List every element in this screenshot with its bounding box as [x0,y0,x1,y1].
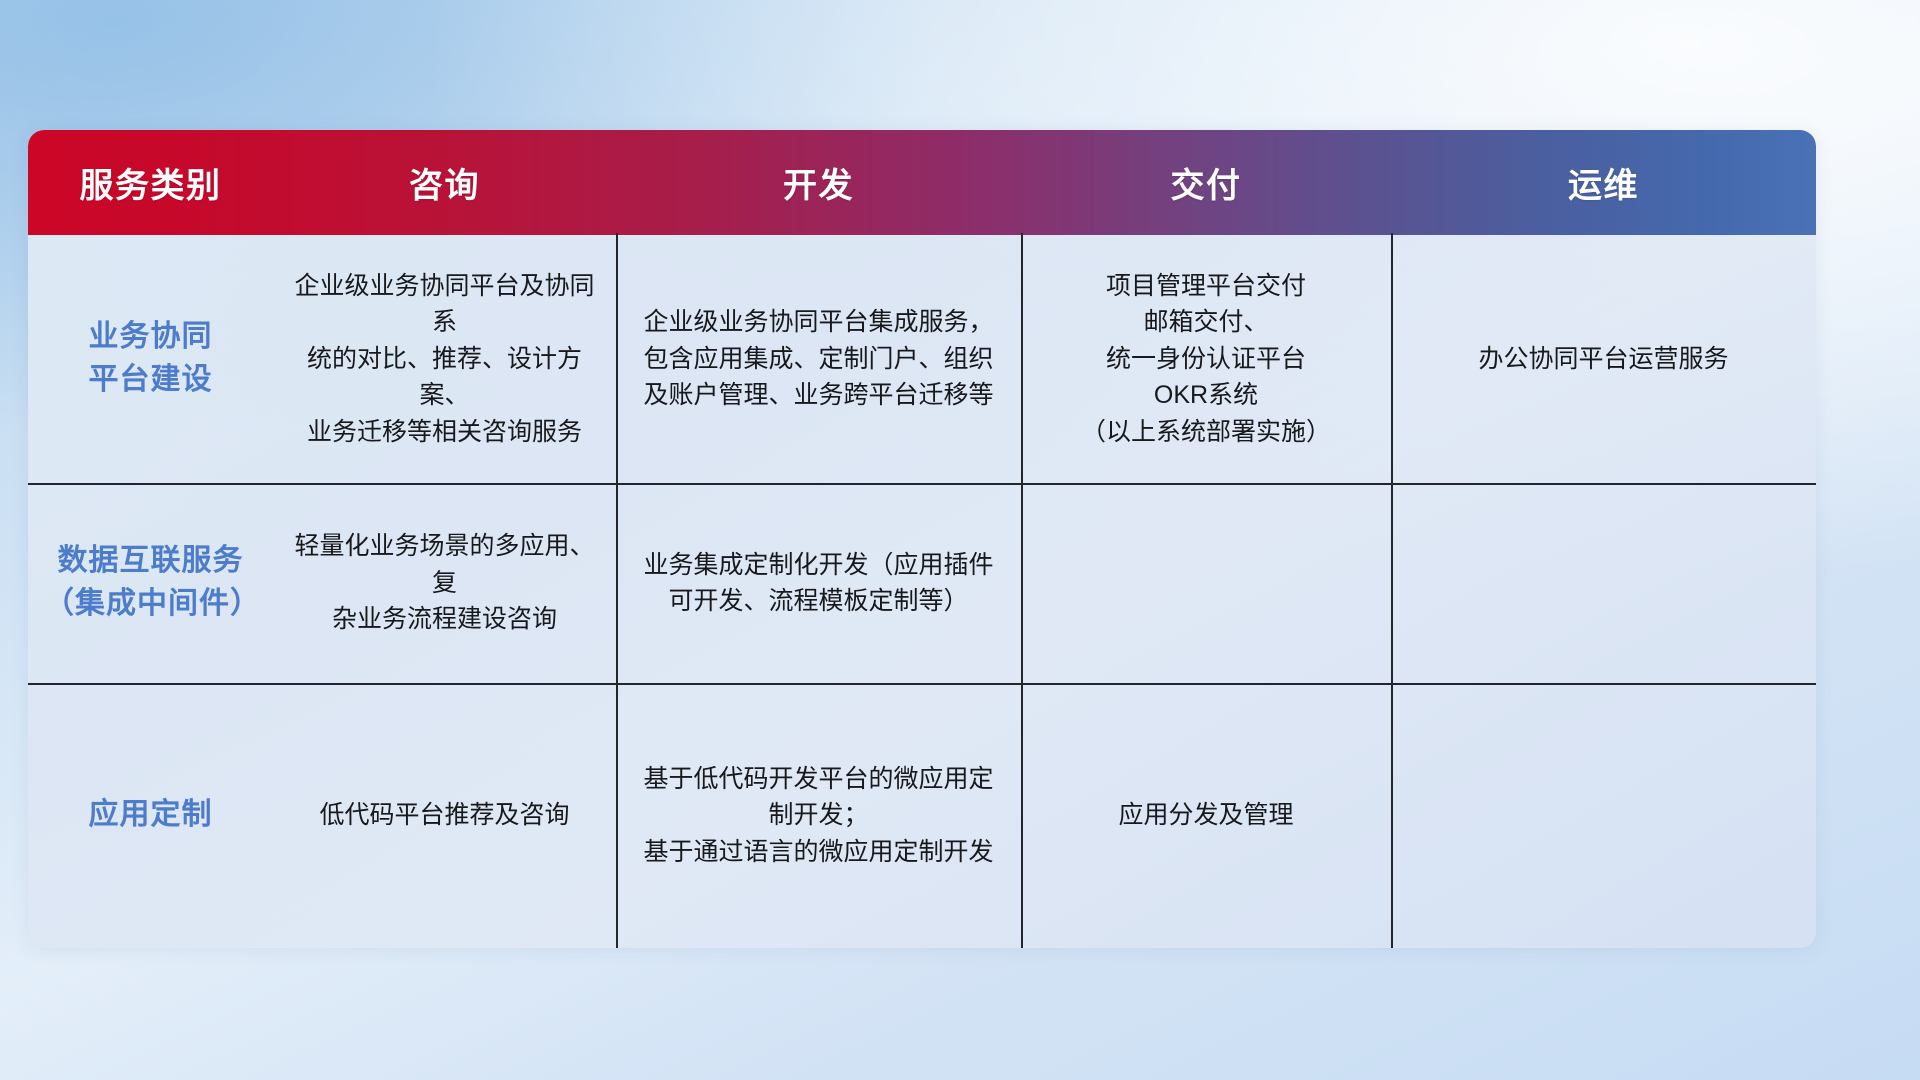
cell-delivery [1021,483,1391,683]
column-header-delivery: 交付 [1021,130,1391,235]
cell-text: 应用分发及管理 [1118,797,1293,834]
cell-consulting: 轻量化业务场景的多应用、复 杂业务流程建设咨询 [273,483,616,683]
row-category-cell: 数据互联服务 （集成中间件） [28,483,273,683]
cell-development: 基于低代码开发平台的微应用定 制开发； 基于通过语言的微应用定制开发 [616,683,1021,948]
column-header-category: 服务类别 [28,130,273,235]
cell-operations [1391,483,1816,683]
table-row: 业务协同 平台建设 企业级业务协同平台及协同系 统的对比、推荐、设计方案、 业务… [28,235,1816,483]
cell-text: 办公协同平台运营服务 [1478,341,1728,378]
cell-consulting: 低代码平台推荐及咨询 [273,683,616,948]
row-category-cell: 业务协同 平台建设 [28,235,273,483]
column-header-development: 开发 [616,130,1021,235]
cell-text: 项目管理平台交付 邮箱交付、 统一身份认证平台 OKR系统 （以上系统部署实施） [1081,268,1331,451]
cell-delivery: 项目管理平台交付 邮箱交付、 统一身份认证平台 OKR系统 （以上系统部署实施） [1021,235,1391,483]
cell-text: 低代码平台推荐及咨询 [319,797,569,834]
cell-development: 业务集成定制化开发（应用插件 可开发、流程模板定制等） [616,483,1021,683]
cell-delivery: 应用分发及管理 [1021,683,1391,948]
service-matrix-table: 服务类别 咨询 开发 交付 运维 业务协同 平台建设 企业级业务协同平台及协同系… [28,130,1816,948]
column-header-consulting: 咨询 [273,130,616,235]
slide-canvas: 服务类别 咨询 开发 交付 运维 业务协同 平台建设 企业级业务协同平台及协同系… [0,0,1920,1080]
row-category-cell: 应用定制 [28,683,273,948]
cell-text: 基于低代码开发平台的微应用定 制开发； 基于通过语言的微应用定制开发 [643,761,993,871]
cell-text: 企业级业务协同平台集成服务， 包含应用集成、定制门户、组织 及账户管理、业务跨平… [643,304,993,414]
category-label: 数据互联服务 （集成中间件） [44,540,257,625]
table-row: 数据互联服务 （集成中间件） 轻量化业务场景的多应用、复 杂业务流程建设咨询 业… [28,483,1816,683]
table-body: 业务协同 平台建设 企业级业务协同平台及协同系 统的对比、推荐、设计方案、 业务… [28,235,1816,948]
cell-text: 业务集成定制化开发（应用插件 可开发、流程模板定制等） [643,547,993,620]
cell-text: 企业级业务协同平台及协同系 统的对比、推荐、设计方案、 业务迁移等相关咨询服务 [289,268,600,451]
category-label: 业务协同 平台建设 [89,316,213,401]
cell-operations: 办公协同平台运营服务 [1391,235,1816,483]
cell-text: 轻量化业务场景的多应用、复 杂业务流程建设咨询 [289,528,600,638]
table-header-row: 服务类别 咨询 开发 交付 运维 [28,130,1816,235]
table-row: 应用定制 低代码平台推荐及咨询 基于低代码开发平台的微应用定 制开发； 基于通过… [28,683,1816,948]
cell-development: 企业级业务协同平台集成服务， 包含应用集成、定制门户、组织 及账户管理、业务跨平… [616,235,1021,483]
cell-operations [1391,683,1816,948]
cell-consulting: 企业级业务协同平台及协同系 统的对比、推荐、设计方案、 业务迁移等相关咨询服务 [273,235,616,483]
category-label: 应用定制 [89,794,213,837]
column-header-operations: 运维 [1391,130,1816,235]
